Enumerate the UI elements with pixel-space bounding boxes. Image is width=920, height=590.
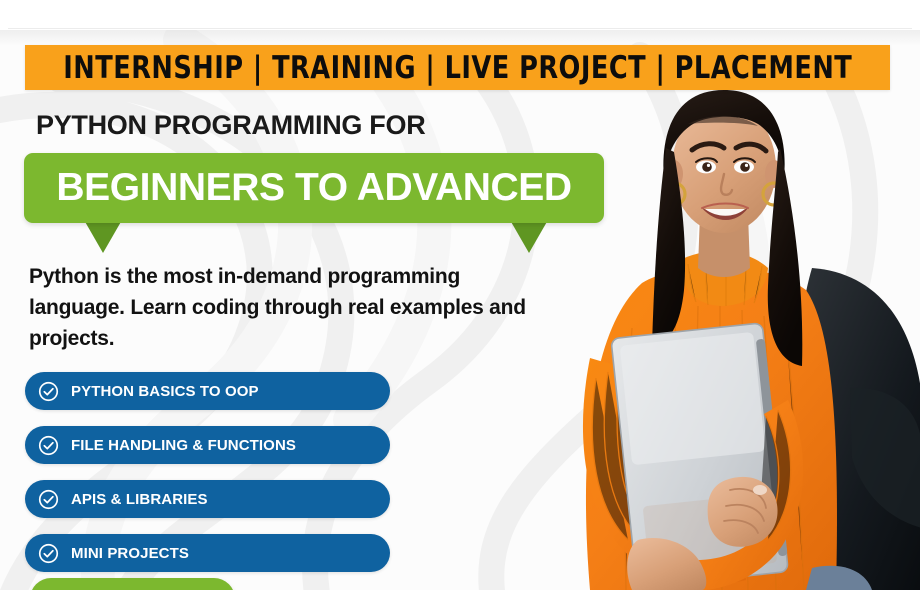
course-poster: INTERNSHIP | TRAINING | LIVE PROJECT | P…	[0, 0, 920, 590]
feature-pill-2-label: FILE HANDLING & FUNCTIONS	[71, 437, 314, 454]
page-subtitle: PYTHON PROGRAMMING FOR	[36, 110, 425, 141]
cta-button[interactable]	[30, 578, 235, 590]
top-banner: INTERNSHIP | TRAINING | LIVE PROJECT | P…	[25, 45, 890, 90]
feature-pill-4-label: MINI PROJECTS	[71, 545, 207, 562]
check-circle-icon	[38, 489, 59, 510]
lead-paragraph: Python is the most in-demand programming…	[29, 261, 559, 354]
ribbon-body: BEGINNERS TO ADVANCED	[24, 153, 604, 223]
feature-pill-4[interactable]: MINI PROJECTS	[25, 534, 390, 572]
ribbon-text: BEGINNERS TO ADVANCED	[56, 166, 571, 210]
headline-ribbon: BEGINNERS TO ADVANCED	[24, 153, 604, 253]
top-banner-text: INTERNSHIP | TRAINING | LIVE PROJECT | P…	[63, 50, 852, 86]
feature-pill-2[interactable]: FILE HANDLING & FUNCTIONS	[25, 426, 390, 464]
student-photo	[520, 28, 920, 590]
feature-list: PYTHON BASICS TO OOP FILE HANDLING & FUN…	[25, 372, 390, 588]
check-circle-icon	[38, 435, 59, 456]
header-shadow	[0, 30, 920, 46]
feature-pill-3[interactable]: APIS & LIBRARIES	[25, 480, 390, 518]
check-circle-icon	[38, 543, 59, 564]
check-circle-icon	[38, 381, 59, 402]
feature-pill-1-label: PYTHON BASICS TO OOP	[71, 383, 277, 400]
feature-pill-3-label: APIS & LIBRARIES	[71, 491, 226, 508]
feature-pill-1[interactable]: PYTHON BASICS TO OOP	[25, 372, 390, 410]
brand-logo	[630, 0, 890, 6]
